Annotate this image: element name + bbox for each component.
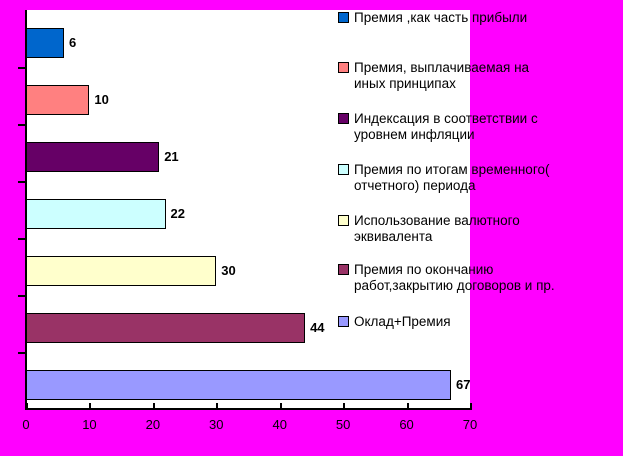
legend-item[interactable]: Премия по окончаниюработ,закрытию догово… bbox=[338, 262, 555, 294]
legend-color-swatch bbox=[338, 264, 349, 275]
legend-color-swatch bbox=[338, 316, 349, 327]
legend-item-label: Премия по итогам временного(отчетного) п… bbox=[354, 162, 549, 194]
y-axis-tick bbox=[18, 352, 26, 354]
legend-color-swatch bbox=[338, 215, 349, 226]
x-axis-tick bbox=[470, 403, 472, 410]
bar-value-label: 6 bbox=[69, 28, 76, 58]
legend-item-label: Оклад+Премия bbox=[354, 314, 451, 330]
y-axis-tick bbox=[18, 295, 26, 297]
legend-item-label-line2: уровнем инфляции bbox=[354, 127, 538, 143]
x-axis-tick-label: 30 bbox=[196, 417, 236, 432]
legend-item-label-line2: отчетного) периода bbox=[354, 178, 549, 194]
legend-color-swatch bbox=[338, 12, 349, 23]
x-axis-tick bbox=[407, 403, 409, 410]
bar-premiya-kak-chast-pribyli bbox=[26, 28, 64, 58]
bar-oklad-premiya bbox=[26, 370, 451, 400]
bar-value-label: 67 bbox=[456, 370, 470, 400]
y-axis-tick bbox=[18, 181, 26, 183]
legend-item[interactable]: Премия ,как часть прибыли bbox=[338, 10, 527, 26]
legend-color-swatch bbox=[338, 62, 349, 73]
x-axis-tick-label: 40 bbox=[260, 417, 300, 432]
legend-item-label-line2: эквивалента bbox=[354, 229, 520, 245]
legend-item-label: Премия, выплачиваемая наиных принципах bbox=[354, 60, 529, 92]
legend-item[interactable]: Использование валютногоэквивалента bbox=[338, 213, 520, 245]
bar-value-label: 30 bbox=[221, 256, 235, 286]
legend-item-label-line2: работ,закрытию договоров и пр. bbox=[354, 278, 555, 294]
legend-item[interactable]: Оклад+Премия bbox=[338, 314, 451, 330]
x-axis-tick-label: 10 bbox=[69, 417, 109, 432]
legend-item-label: Премия по окончаниюработ,закрытию догово… bbox=[354, 262, 555, 294]
legend-item-label: Премия ,как часть прибыли bbox=[354, 10, 527, 26]
x-axis-tick-label: 70 bbox=[450, 417, 490, 432]
legend-color-swatch bbox=[338, 113, 349, 124]
y-axis-tick bbox=[18, 124, 26, 126]
legend-color-swatch bbox=[338, 164, 349, 175]
x-axis-line bbox=[25, 408, 471, 410]
bar-premiya-po-itogam-perioda bbox=[26, 199, 166, 229]
x-axis-tick bbox=[343, 403, 345, 410]
legend-item[interactable]: Премия, выплачиваемая наиных принципах bbox=[338, 60, 529, 92]
bar-chart: 010203040506070 6102122304467 Премия ,ка… bbox=[0, 0, 623, 456]
legend-item[interactable]: Индексация в соответствии суровнем инфля… bbox=[338, 111, 538, 143]
bar-indeksaciya-inflyaciya bbox=[26, 142, 159, 172]
legend-item-label: Использование валютногоэквивалента bbox=[354, 213, 520, 245]
y-axis-tick bbox=[18, 67, 26, 69]
x-axis-tick bbox=[280, 403, 282, 410]
x-axis-tick bbox=[89, 403, 91, 410]
x-axis-tick-label: 20 bbox=[133, 417, 173, 432]
x-axis-tick bbox=[216, 403, 218, 410]
bar-premiya-vyplachivaemaya bbox=[26, 85, 89, 115]
bar-value-label: 44 bbox=[310, 313, 324, 343]
bar-value-label: 22 bbox=[171, 199, 185, 229]
bar-value-label: 21 bbox=[164, 142, 178, 172]
x-axis-tick-label: 50 bbox=[323, 417, 363, 432]
x-axis-tick bbox=[153, 403, 155, 410]
legend-item-label: Индексация в соответствии суровнем инфля… bbox=[354, 111, 538, 143]
bar-premiya-po-okonchaniyu-rabot bbox=[26, 313, 305, 343]
x-axis-tick-label: 0 bbox=[6, 417, 46, 432]
x-axis-tick bbox=[26, 403, 28, 410]
y-axis-tick bbox=[18, 238, 26, 240]
bar-value-label: 10 bbox=[94, 85, 108, 115]
bar-valyutnyy-ekvivalent bbox=[26, 256, 216, 286]
legend-item[interactable]: Премия по итогам временного(отчетного) п… bbox=[338, 162, 549, 194]
legend-item-label-line2: иных принципах bbox=[354, 76, 529, 92]
x-axis-tick-label: 60 bbox=[387, 417, 427, 432]
